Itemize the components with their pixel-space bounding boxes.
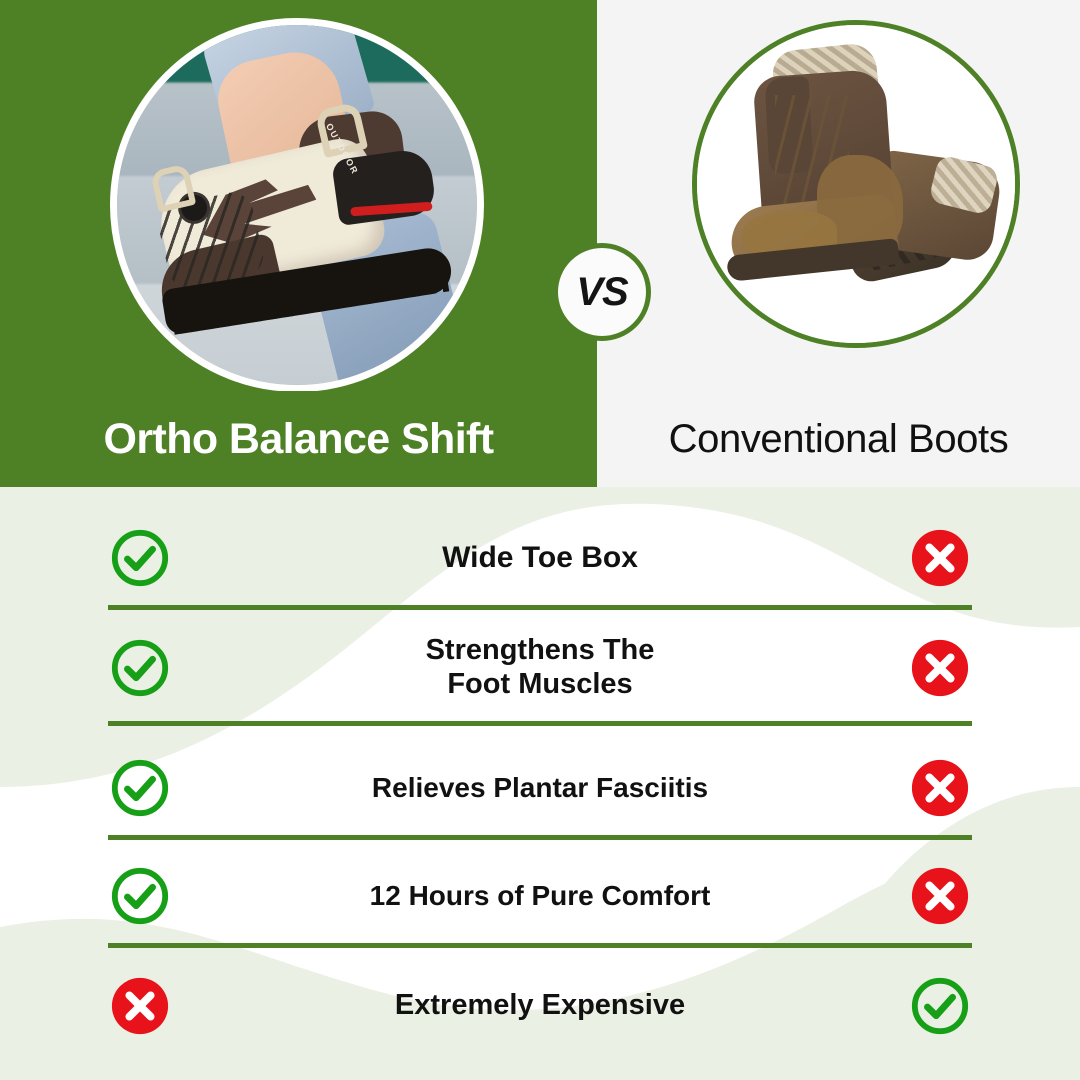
table-row: Extremely Expensive xyxy=(0,957,1080,1055)
row-feature-label: Relieves Plantar Fasciitis xyxy=(372,772,708,804)
cross-circle-icon xyxy=(109,975,171,1037)
check-circle-icon xyxy=(109,527,171,589)
row-divider xyxy=(108,835,972,840)
row-left-verdict xyxy=(0,865,280,927)
comparison-infographic: OUTDOOR xyxy=(0,0,1080,1080)
comparison-rows: Wide Toe Box xyxy=(0,487,1080,1080)
table-row: 12 Hours of Pure Comfort xyxy=(0,847,1080,945)
row-feature: Wide Toe Box xyxy=(280,541,800,576)
boots-illustration xyxy=(697,25,1015,343)
sneaker-illustration: OUTDOOR xyxy=(117,25,477,385)
row-right-verdict xyxy=(800,637,1080,699)
row-right-verdict xyxy=(800,757,1080,819)
row-right-verdict xyxy=(800,527,1080,589)
table-row: Relieves Plantar Fasciitis xyxy=(0,739,1080,837)
row-divider xyxy=(108,605,972,610)
product-name-left: Ortho Balance Shift xyxy=(0,391,597,487)
table-row: Wide Toe Box xyxy=(0,509,1080,607)
row-right-verdict xyxy=(800,975,1080,1037)
row-left-verdict xyxy=(0,975,280,1037)
row-left-verdict xyxy=(0,527,280,589)
row-feature: 12 Hours of Pure Comfort xyxy=(280,880,800,912)
row-feature-label: Strengthens The Foot Muscles xyxy=(426,634,655,701)
row-feature-label: Wide Toe Box xyxy=(442,541,638,576)
product-name-right: Conventional Boots xyxy=(597,391,1080,487)
row-feature: Strengthens The Foot Muscles xyxy=(280,634,800,701)
check-circle-icon xyxy=(109,865,171,927)
product-name-left-label: Ortho Balance Shift xyxy=(104,415,494,464)
row-feature-label: 12 Hours of Pure Comfort xyxy=(370,880,711,912)
row-divider xyxy=(108,721,972,726)
cross-circle-icon xyxy=(909,865,971,927)
vs-badge: VS xyxy=(553,243,651,341)
vs-label: VS xyxy=(576,270,627,315)
row-left-verdict xyxy=(0,637,280,699)
row-feature: Extremely Expensive xyxy=(280,989,800,1023)
comparison-table: Wide Toe Box xyxy=(0,487,1080,1080)
check-circle-icon xyxy=(109,637,171,699)
check-circle-icon xyxy=(109,757,171,819)
product-name-bar: Ortho Balance Shift Conventional Boots xyxy=(0,391,1080,487)
row-divider xyxy=(108,943,972,948)
product-image-sneaker: OUTDOOR xyxy=(110,18,484,392)
row-feature-label: Extremely Expensive xyxy=(395,989,685,1023)
row-left-verdict xyxy=(0,757,280,819)
table-row: Strengthens The Foot Muscles xyxy=(0,613,1080,723)
product-image-boots xyxy=(692,20,1020,348)
cross-circle-icon xyxy=(909,757,971,819)
row-right-verdict xyxy=(800,865,1080,927)
check-circle-icon xyxy=(909,975,971,1037)
cross-circle-icon xyxy=(909,527,971,589)
product-name-right-label: Conventional Boots xyxy=(669,417,1009,462)
row-feature: Relieves Plantar Fasciitis xyxy=(280,772,800,804)
cross-circle-icon xyxy=(909,637,971,699)
